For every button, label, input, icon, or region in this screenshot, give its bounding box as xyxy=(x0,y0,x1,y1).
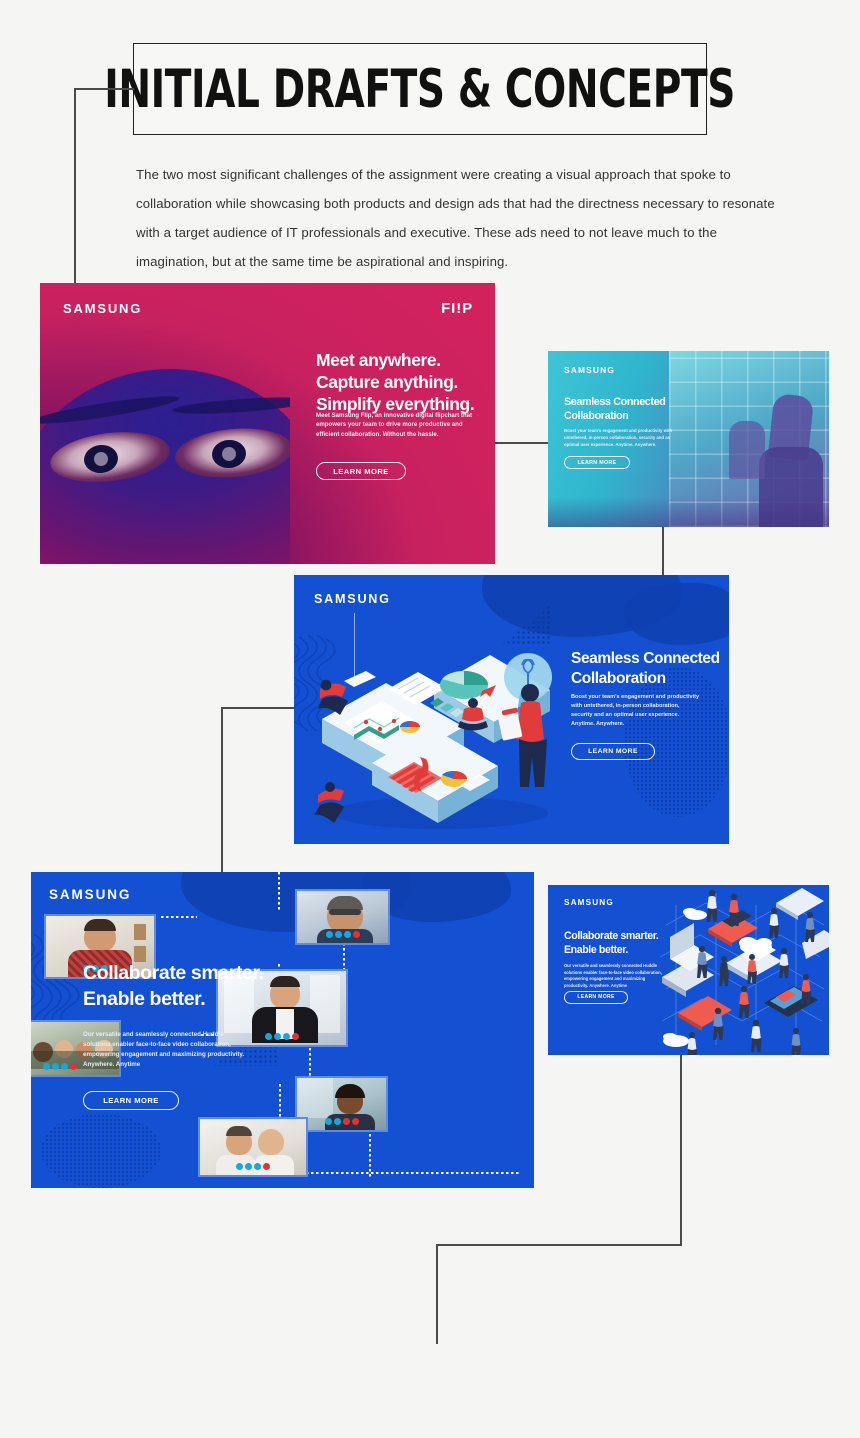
banner-body-copy: Boost your team's engagement and product… xyxy=(571,693,701,729)
learn-more-button[interactable]: LEARN MORE xyxy=(83,1091,179,1110)
connector-banner5-down xyxy=(680,1055,682,1245)
flip-product-logo: FI!P xyxy=(441,300,473,317)
video-link-line xyxy=(161,916,197,918)
banner-headline: Collaborate smarter. Enable better. xyxy=(564,930,658,957)
headline-line: Seamless Connected xyxy=(571,649,720,669)
page-title: INITIAL DRAFTS & CONCEPTS xyxy=(105,59,736,120)
learn-more-button[interactable]: LEARN MORE xyxy=(564,991,628,1004)
connector-banner3-to-banner4-h xyxy=(221,707,295,709)
banner-teal-collaboration[interactable]: SAMSUNG Seamless Connected Collaboration… xyxy=(548,351,829,527)
decorative-blob xyxy=(624,583,729,645)
banner-body-copy: Boost your team's engagement and product… xyxy=(564,428,682,449)
banner-blue-isometric-collaboration[interactable]: SAMSUNG Seamless Connected Collaboration… xyxy=(294,575,729,844)
connector-title-to-banner1-down xyxy=(74,88,76,284)
banner-body-copy: Our versatile and seamlessly connected H… xyxy=(83,1030,248,1070)
page-title-box: INITIAL DRAFTS & CONCEPTS xyxy=(133,43,707,135)
poster-canvas: INITIAL DRAFTS & CONCEPTS The two most s… xyxy=(0,0,860,1438)
connector-banner3-to-banner4-v xyxy=(221,707,223,874)
connector-bottom-h xyxy=(436,1244,682,1246)
connector-bottom-v xyxy=(436,1244,438,1344)
learn-more-button[interactable]: LEARN MORE xyxy=(571,743,655,760)
headline-line: Collaboration xyxy=(571,669,720,689)
banner-body-copy: Meet Samsung Flip, an innovative digital… xyxy=(316,411,476,439)
samsung-logo: SAMSUNG xyxy=(314,592,391,606)
banner-headline: Collaborate smarter. Enable better. xyxy=(83,960,264,1012)
headline-line: Capture anything. xyxy=(316,371,474,393)
samsung-logo: SAMSUNG xyxy=(49,887,131,902)
intro-paragraph: The two most significant challenges of t… xyxy=(136,160,786,276)
portrait-artwork xyxy=(40,283,290,564)
banner-headline: Meet anywhere. Capture anything. Simplif… xyxy=(316,349,474,415)
headline-line: Enable better. xyxy=(564,944,658,958)
samsung-logo: SAMSUNG xyxy=(564,365,615,375)
banner-headline: Seamless Connected Collaboration xyxy=(564,396,665,423)
connector-banner1-to-banner2 xyxy=(494,442,550,444)
isometric-devices-illustration xyxy=(656,885,829,1055)
headline-line: Collaboration xyxy=(564,410,665,424)
headline-line: Collaborate smarter. xyxy=(83,960,264,986)
headline-line: Meet anywhere. xyxy=(316,349,474,371)
headline-line: Seamless Connected xyxy=(564,396,665,410)
decorative-dot-field xyxy=(41,1114,161,1188)
banner-collaborate-smarter-video[interactable]: SAMSUNG Collaborate smarter. Enable bett… xyxy=(31,872,534,1188)
banner-headline: Seamless Connected Collaboration xyxy=(571,649,720,689)
connector-banner2-to-banner3 xyxy=(662,527,664,576)
samsung-logo: SAMSUNG xyxy=(63,301,142,316)
decorative-vertical-rule xyxy=(354,613,355,685)
learn-more-button[interactable]: LEARN MORE xyxy=(564,456,630,469)
connector-title-to-banner1-top xyxy=(74,88,134,90)
learn-more-button[interactable]: LEARN MORE xyxy=(316,462,406,480)
headline-line: Enable better. xyxy=(83,986,264,1012)
banner-flip-magenta[interactable]: SAMSUNG FI!P Meet anywhere. Capture anyt… xyxy=(40,283,495,564)
headline-line: Collaborate smarter. xyxy=(564,930,658,944)
video-call-tile[interactable] xyxy=(295,889,390,945)
video-call-tile[interactable] xyxy=(198,1117,308,1177)
banner-body-copy: Our versatile and seamlessly connected H… xyxy=(564,963,667,990)
decorative-dot-field xyxy=(624,667,729,817)
isometric-figure-with-clipboard xyxy=(494,679,560,809)
video-call-tile[interactable] xyxy=(295,1076,388,1132)
banner-collaborate-smarter-isometric[interactable]: SAMSUNG Collaborate smarter. Enable bett… xyxy=(548,885,829,1055)
samsung-logo: SAMSUNG xyxy=(564,898,614,907)
video-link-line xyxy=(278,872,280,910)
